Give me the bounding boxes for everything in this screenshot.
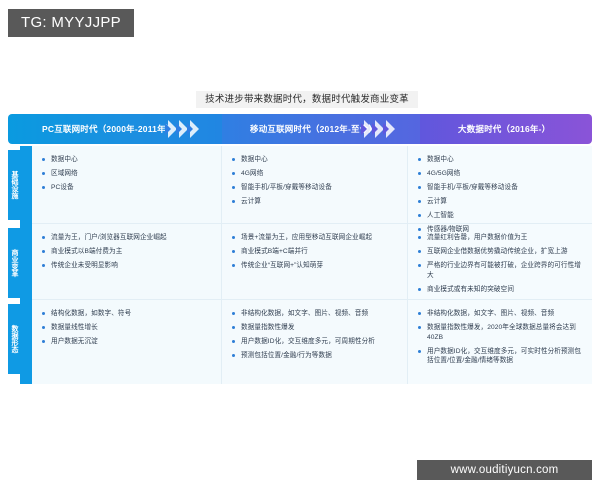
list-item: 用户数据ID化，交互维度多元，可实时性分析预测包括位置/位置/金融/情绪等数据 [418, 347, 584, 366]
cell-infrastructure-bigdata: 数据中心 4G/5G网络 智能手机/平板/穿戴等移动设备 云计算 人工智能 传感… [408, 146, 592, 224]
matrix-body: 基础设施 商业变革 数据形态 数据中心 区域网络 PC设备 数据中心 4G网络 … [8, 146, 592, 384]
category-label-infrastructure: 基础设施 [8, 150, 20, 220]
list-item: 用户数据ID化，交互维度多元，可周期性分析 [232, 337, 399, 347]
list-item: 严格的行业边界有可能被打破，企业跨界的可行性增大 [418, 261, 584, 280]
list-item: 场景+流量为王，应用型移动互联网企业崛起 [232, 233, 399, 243]
list-item: 商业模式或有未知的突破空间 [418, 285, 584, 295]
list-item: 云计算 [418, 197, 584, 207]
category-label-business: 商业变革 [8, 228, 20, 298]
list-item: 数据量线性增长 [42, 323, 213, 333]
list-item: 非结构化数据，如文字、图片、视频、音频 [232, 309, 399, 319]
era-header-mobile[interactable]: 移动互联网时代（2012年-至今） [222, 114, 420, 144]
list-item: 智能手机/平板/穿戴等移动设备 [232, 183, 399, 193]
list-item: 商业模式以B端付费为主 [42, 247, 213, 257]
cell-data-bigdata: 非结构化数据，如文字、图片、视频、音频 数据量指数性爆发，2020年全球数据总量… [408, 300, 592, 384]
diagram-title: 技术进步带来数据时代，数据时代触发商业变革 [196, 91, 418, 108]
list-item: 云计算 [232, 197, 399, 207]
cell-data-mobile: 非结构化数据，如文字、图片、视频、音频 数据量指数性爆发 用户数据ID化，交互维… [222, 300, 408, 384]
cell-business-pc: 流量为王，门户/浏览器互联网企业崛起 商业模式以B端付费为主 传统企业未受明显影… [32, 224, 222, 300]
list-item: 流量为王，门户/浏览器互联网企业崛起 [42, 233, 213, 243]
category-rail [20, 146, 32, 384]
list-item: 结构化数据，如数字、符号 [42, 309, 213, 319]
era-label-mobile: 移动互联网时代（2012年-至今） [250, 123, 377, 135]
era-header-row: PC互联网时代（2000年-2011年） 移动互联网时代（2012年-至今） 大… [8, 114, 592, 144]
list-item: 用户数据无沉淀 [42, 337, 213, 347]
list-item: 区域网络 [42, 169, 213, 179]
cell-business-bigdata: 流量红利告罄，用户数据价值为王 互联网企业借数据优势撬动传统企业，扩宽上游 严格… [408, 224, 592, 300]
list-item: 商业模式B端+C端并行 [232, 247, 399, 257]
list-item: 数据中心 [42, 155, 213, 165]
list-item: 数据量指数性爆发，2020年全球数据总量将会达到40ZB [418, 323, 584, 342]
era-label-bigdata: 大数据时代（2016年-） [458, 123, 550, 135]
list-item: 智能手机/平板/穿戴等移动设备 [418, 183, 584, 193]
list-item: PC设备 [42, 183, 213, 193]
list-item: 4G网络 [232, 169, 399, 179]
watermark: www.ouditiyucn.com [417, 460, 592, 480]
list-item: 4G/5G网络 [418, 169, 584, 179]
cell-data-pc: 结构化数据，如数字、符号 数据量线性增长 用户数据无沉淀 [32, 300, 222, 384]
list-item: 流量红利告罄，用户数据价值为王 [418, 233, 584, 243]
era-header-pc[interactable]: PC互联网时代（2000年-2011年） [8, 114, 222, 144]
list-item: 互联网企业借数据优势撬动传统企业，扩宽上游 [418, 247, 584, 257]
list-item: 人工智能 [418, 211, 584, 221]
category-label-column: 基础设施 商业变革 数据形态 [8, 146, 20, 384]
list-item: 传统企业“互联网+”认知萌芽 [232, 261, 399, 271]
cell-business-mobile: 场景+流量为王，应用型移动互联网企业崛起 商业模式B端+C端并行 传统企业“互联… [222, 224, 408, 300]
matrix-cells: 数据中心 区域网络 PC设备 数据中心 4G网络 智能手机/平板/穿戴等移动设备… [32, 146, 592, 384]
era-header-bigdata[interactable]: 大数据时代（2016年-） [420, 114, 592, 144]
tg-badge: TG: MYYJJPP [8, 9, 134, 37]
era-label-pc: PC互联网时代（2000年-2011年） [42, 123, 175, 135]
evolution-diagram: PC互联网时代（2000年-2011年） 移动互联网时代（2012年-至今） 大… [8, 114, 592, 386]
list-item: 数据量指数性爆发 [232, 323, 399, 333]
list-item: 非结构化数据，如文字、图片、视频、音频 [418, 309, 584, 319]
list-item: 数据中心 [232, 155, 399, 165]
list-item: 数据中心 [418, 155, 584, 165]
cell-infrastructure-pc: 数据中心 区域网络 PC设备 [32, 146, 222, 224]
category-label-data: 数据形态 [8, 304, 20, 374]
list-item: 预测包括位置/金融/行为等数据 [232, 351, 399, 361]
list-item: 传统企业未受明显影响 [42, 261, 213, 271]
cell-infrastructure-mobile: 数据中心 4G网络 智能手机/平板/穿戴等移动设备 云计算 [222, 146, 408, 224]
